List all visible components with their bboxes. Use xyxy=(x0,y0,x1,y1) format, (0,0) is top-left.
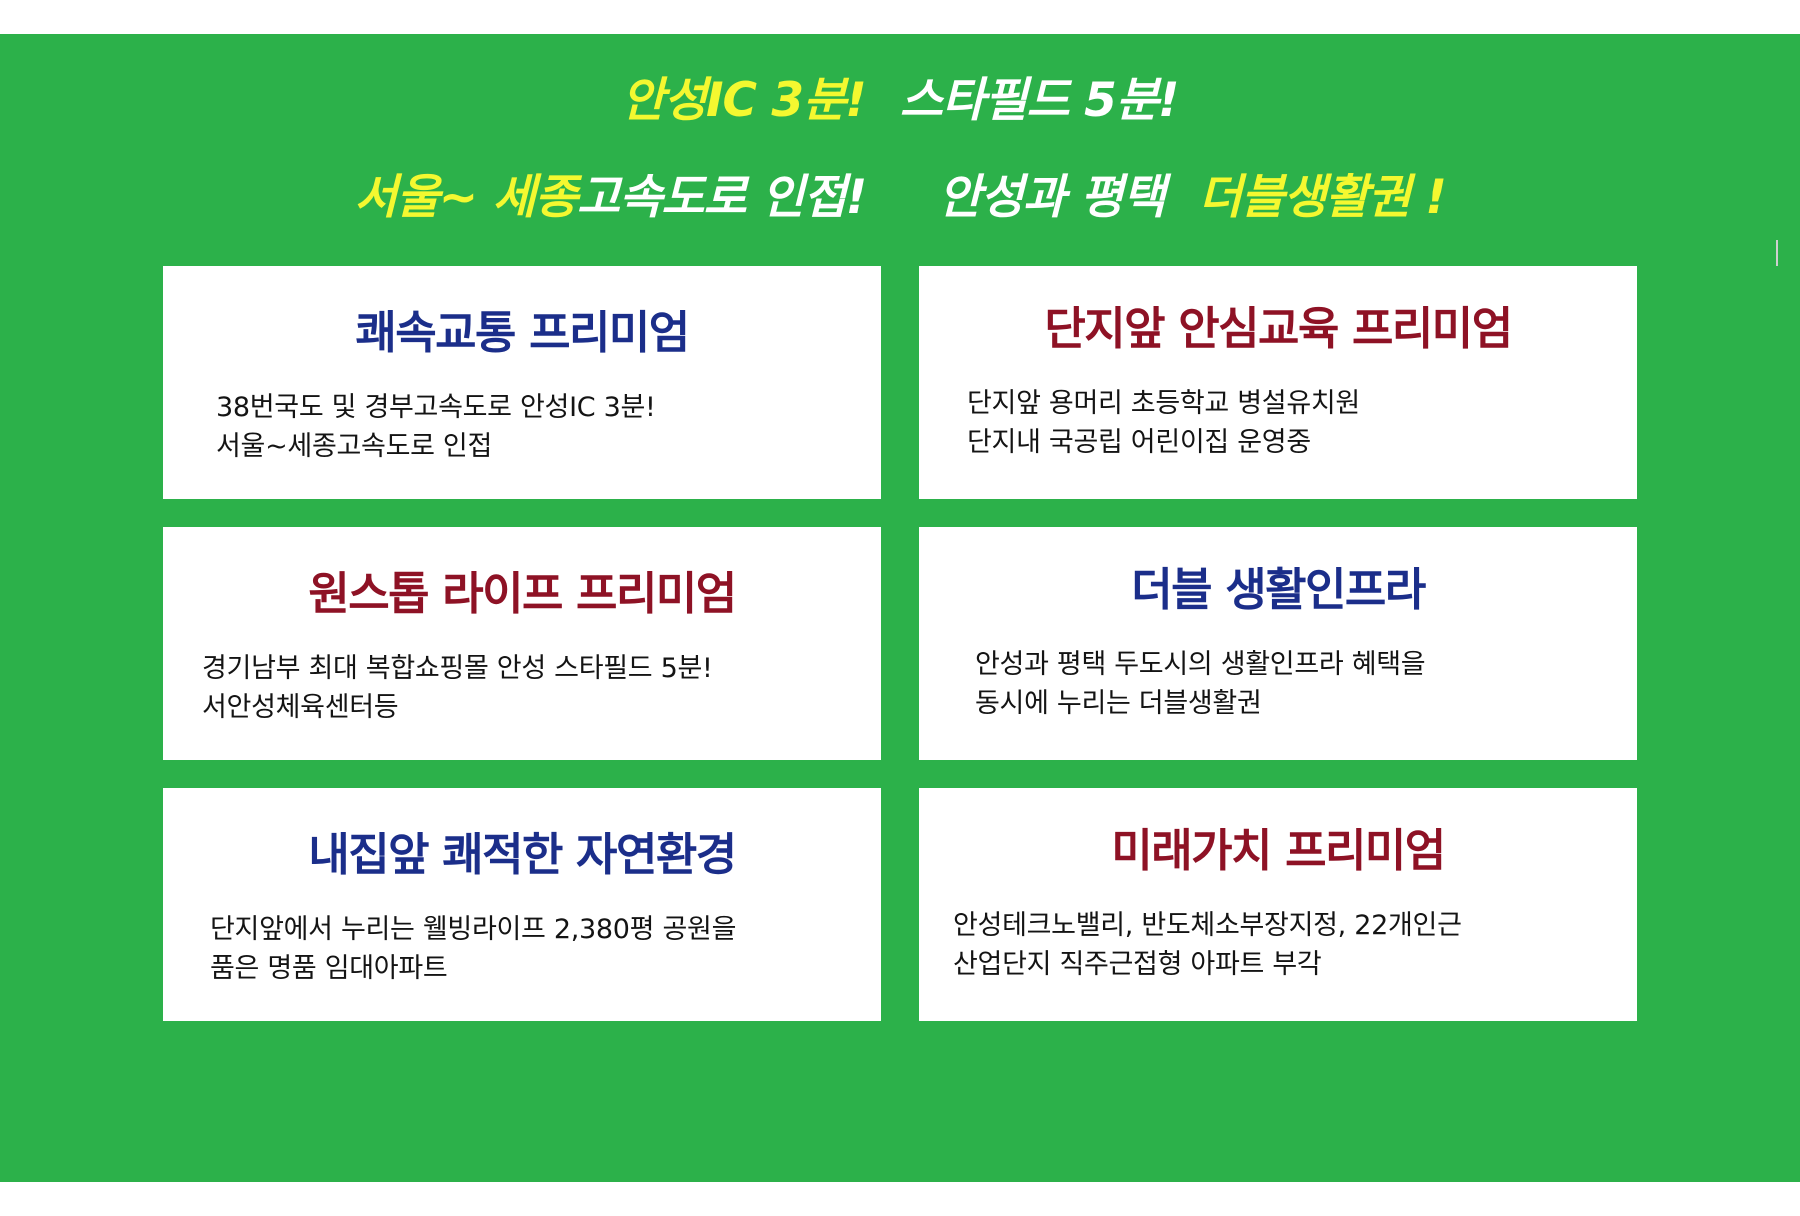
headline-2-part-2: 고속도로 인접! xyxy=(577,170,866,225)
feature-card-onestop-life: 원스톱 라이프 프리미엄 경기남부 최대 복합쇼핑몰 안성 스타필드 5분! 서… xyxy=(163,527,881,760)
headline-2-part-1: 서울~ 세종 xyxy=(354,170,577,225)
card-body-nature-environment: 단지앞에서 누리는 웰빙라이프 2,380평 공원을 품은 명품 임대아파트 xyxy=(176,910,868,990)
card-body-onestop-life: 경기남부 최대 복합쇼핑몰 안성 스타필드 5분! 서안성체육센터등 xyxy=(184,649,860,729)
headline-1-part-2: 스타필드 5분! xyxy=(900,73,1179,128)
headline-1-part-1: 안성IC 3분! xyxy=(622,73,866,128)
headline-2-part-4: 더블생활권 ! xyxy=(1199,170,1446,225)
card-body-line: 동시에 누리는 더블생활권 xyxy=(975,684,1633,724)
card-body-line: 산업단지 직주근접형 아파트 부각 xyxy=(953,945,1611,985)
card-body-fast-transit: 38번국도 및 경부고속도로 안성IC 3분! 서울~세종고속도로 인접 xyxy=(170,388,874,468)
card-body-line: 안성과 평택 두도시의 생활인프라 혜택을 xyxy=(975,645,1633,685)
card-body-line: 서울~세종고속도로 인접 xyxy=(216,427,874,467)
card-body-future-value: 안성테크노밸리, 반도체소부장지정, 22개인근 산업단지 직주근접형 아파트 … xyxy=(945,906,1611,986)
feature-card-safe-education: 단지앞 안심교육 프리미엄 단지앞 용머리 초등학교 병설유치원 단지내 국공립… xyxy=(919,266,1637,499)
card-body-double-infra: 안성과 평택 두도시의 생활인프라 혜택을 동시에 누리는 더블생활권 xyxy=(923,645,1633,725)
card-body-line: 단지앞에서 누리는 웰빙라이프 2,380평 공원을 xyxy=(210,910,868,950)
headline-block: 안성IC 3분!스타필드 5분! 서울~ 세종고속도로 인접!안성과 평택더블생… xyxy=(0,72,1800,228)
card-title-nature-environment: 내집앞 쾌적한 자연환경 xyxy=(308,830,735,880)
feature-card-nature-environment: 내집앞 쾌적한 자연환경 단지앞에서 누리는 웰빙라이프 2,380평 공원을 … xyxy=(163,788,881,1021)
headline-line-2: 서울~ 세종고속도로 인접!안성과 평택더블생활권 ! xyxy=(0,169,1800,228)
card-title-onestop-life: 원스톱 라이프 프리미엄 xyxy=(308,569,735,619)
card-body-line: 38번국도 및 경부고속도로 안성IC 3분! xyxy=(216,388,874,428)
feature-card-double-infra: 더블 생활인프라 안성과 평택 두도시의 생활인프라 혜택을 동시에 누리는 더… xyxy=(919,527,1637,760)
card-body-safe-education: 단지앞 용머리 초등학교 병설유치원 단지내 국공립 어린이집 운영중 xyxy=(931,384,1625,464)
headline-line-1: 안성IC 3분!스타필드 5분! xyxy=(0,72,1800,131)
card-body-line: 안성테크노밸리, 반도체소부장지정, 22개인근 xyxy=(953,906,1611,946)
edge-tick-mark xyxy=(1776,240,1778,266)
feature-card-future-value: 미래가치 프리미엄 안성테크노밸리, 반도체소부장지정, 22개인근 산업단지 … xyxy=(919,788,1637,1021)
feature-card-fast-transit: 쾌속교통 프리미엄 38번국도 및 경부고속도로 안성IC 3분! 서울~세종고… xyxy=(163,266,881,499)
card-title-future-value: 미래가치 프리미엄 xyxy=(1111,826,1444,876)
card-title-fast-transit: 쾌속교통 프리미엄 xyxy=(355,308,688,358)
card-body-line: 경기남부 최대 복합쇼핑몰 안성 스타필드 5분! xyxy=(202,649,860,689)
card-body-line: 단지앞 용머리 초등학교 병설유치원 xyxy=(967,384,1625,424)
card-body-line: 단지내 국공립 어린이집 운영중 xyxy=(967,423,1625,463)
feature-card-grid: 쾌속교통 프리미엄 38번국도 및 경부고속도로 안성IC 3분! 서울~세종고… xyxy=(40,266,1760,1021)
card-body-line: 서안성체육센터등 xyxy=(202,688,860,728)
headline-2-part-3: 안성과 평택 xyxy=(938,170,1165,225)
poster-background: 안성IC 3분!스타필드 5분! 서울~ 세종고속도로 인접!안성과 평택더블생… xyxy=(0,34,1800,1182)
card-title-safe-education: 단지앞 안심교육 프리미엄 xyxy=(1044,304,1511,354)
card-title-double-infra: 더블 생활인프라 xyxy=(1131,565,1424,615)
card-body-line: 품은 명품 임대아파트 xyxy=(210,949,868,989)
